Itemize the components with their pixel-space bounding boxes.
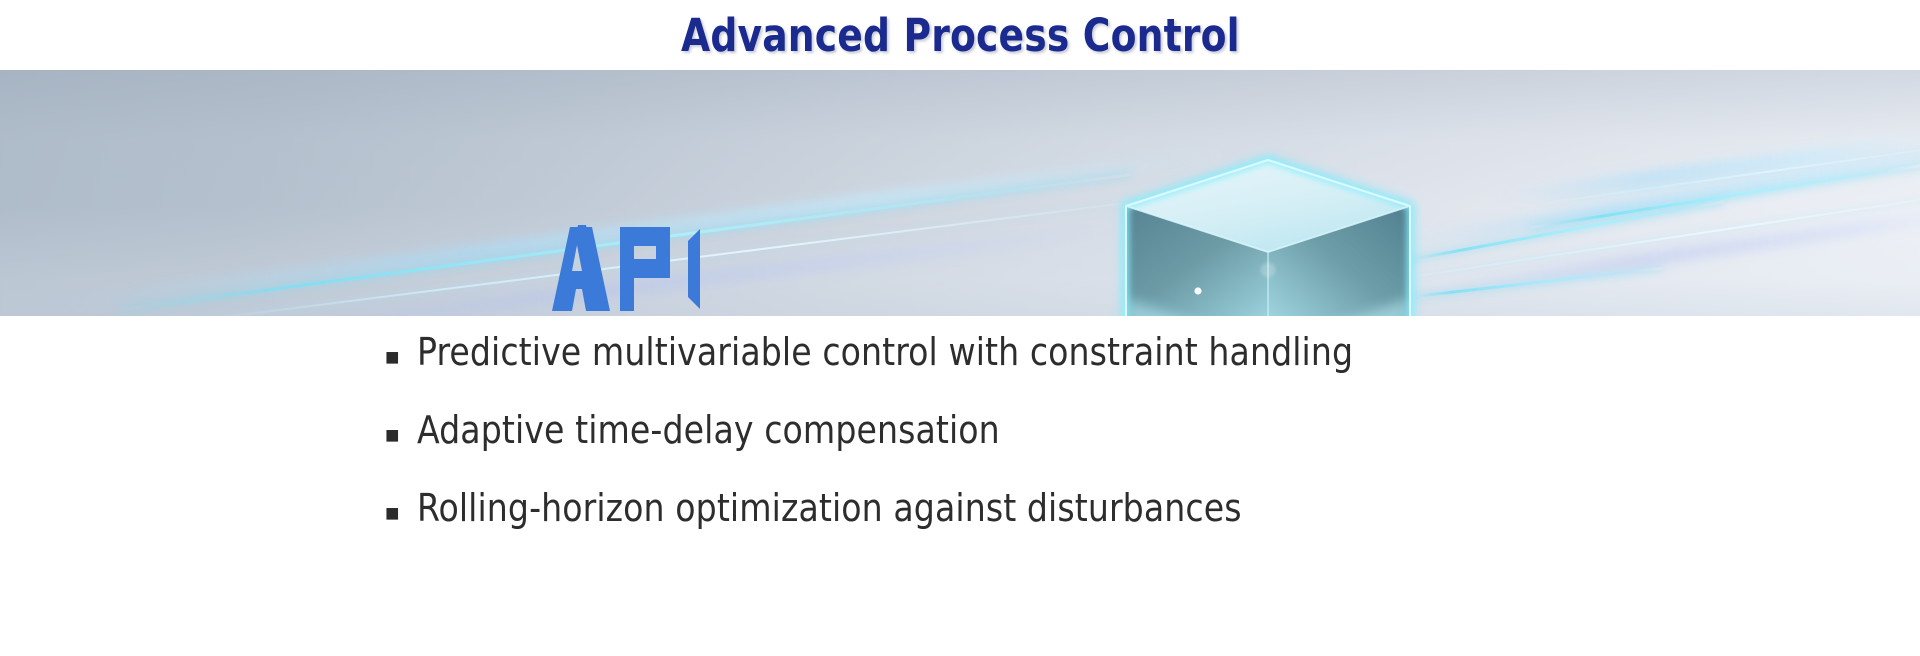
list-item: ■ Rolling-horizon optimization against d… [385,486,1920,564]
list-item-label: Predictive multivariable control with co… [417,330,1353,374]
list-item: ■ Adaptive time-delay compensation [385,408,1920,486]
list-item-label: Rolling-horizon optimization against dis… [417,486,1242,530]
square-bullet-icon: ■ [385,346,417,370]
glass-cube-icon [1100,148,1440,316]
list-item-label: Adaptive time-delay compensation [417,408,1000,452]
apc-logo [530,215,700,315]
list-item: ■ Predictive multivariable control with … [385,330,1920,408]
banner-shading [0,70,1920,316]
square-bullet-icon: ■ [385,502,417,526]
page-title: Advanced Process Control [0,0,1920,70]
hero-banner [0,70,1920,316]
page-title-text: Advanced Process Control [681,9,1240,62]
feature-bullet-list: ■ Predictive multivariable control with … [0,330,1920,564]
square-bullet-icon: ■ [385,424,417,448]
